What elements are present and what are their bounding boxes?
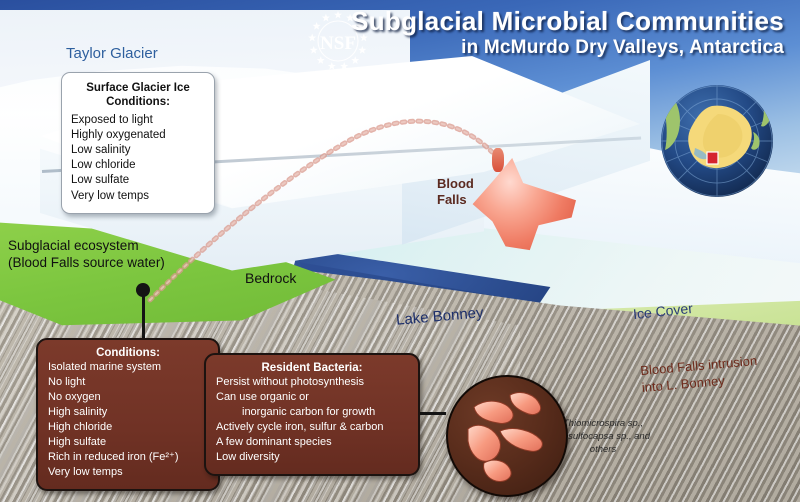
list-item: Actively cycle iron, sulfur & carbon: [216, 420, 408, 435]
list-item: Very low temps: [48, 465, 208, 480]
list-item: High chloride: [48, 420, 208, 435]
list-item: Isolated marine system: [48, 360, 208, 375]
list-item: A few dominant species: [216, 435, 408, 450]
label-subglacial-ecosystem: Subglacial ecosystem (Blood Falls source…: [8, 238, 165, 272]
list-item: High sulfate: [48, 435, 208, 450]
label-blood-falls: Blood Falls: [437, 176, 474, 209]
list-item: Low sulfate: [71, 173, 205, 188]
list-item: inorganic carbon for growth: [216, 405, 408, 420]
title-block: Subglacial Microbial Communities in McMu…: [351, 8, 784, 59]
label-species-names: Thiomicrospira sp., Desulfocapsa sp., an…: [556, 418, 650, 456]
page-subtitle: in McMurdo Dry Valleys, Antarctica: [351, 37, 784, 59]
list-item: Low diversity: [216, 450, 408, 465]
label-bedrock: Bedrock: [245, 270, 296, 286]
surface-box-header: Surface Glacier Ice Conditions:: [71, 81, 205, 110]
surface-box-list: Exposed to light Highly oxygenated Low s…: [71, 113, 205, 204]
surface-glacier-ice-box: Surface Glacier Ice Conditions: Exposed …: [61, 72, 215, 214]
connector-line-vertical: [142, 288, 145, 340]
list-item: Very low temps: [71, 189, 205, 204]
list-item: Rich in reduced iron (Fe²⁺): [48, 450, 208, 465]
blood-falls-stream: [492, 148, 504, 172]
label-taylor-glacier: Taylor Glacier: [66, 45, 158, 62]
list-item: Low chloride: [71, 158, 205, 173]
list-item: Low salinity: [71, 143, 205, 158]
list-item: Persist without photosynthesis: [216, 375, 408, 390]
list-item: Exposed to light: [71, 113, 205, 128]
list-item: Can use organic or: [216, 390, 408, 405]
list-item: No oxygen: [48, 390, 208, 405]
bacteria-box-header: Resident Bacteria:: [216, 362, 408, 374]
conditions-box-header: Conditions:: [48, 347, 208, 359]
list-item: High salinity: [48, 405, 208, 420]
diagram-canvas: NSF Subglacial Microbial Communities in …: [0, 0, 800, 502]
location-marker: [707, 152, 718, 164]
bacteria-micrograph-circle: [446, 375, 568, 497]
bacteria-cells: [448, 377, 566, 495]
list-item: No light: [48, 375, 208, 390]
bacteria-box-list: Persist without photosynthesis Can use o…: [216, 375, 408, 465]
subglacial-conditions-box: Conditions: Isolated marine system No li…: [36, 338, 220, 491]
globe-graticule: [661, 85, 773, 197]
conditions-box-list: Isolated marine system No light No oxyge…: [48, 360, 208, 480]
list-item: Highly oxygenated: [71, 128, 205, 143]
antarctica-globe-inset: [652, 80, 782, 202]
page-title: Subglacial Microbial Communities: [351, 8, 784, 35]
resident-bacteria-box: Resident Bacteria: Persist without photo…: [204, 353, 420, 476]
